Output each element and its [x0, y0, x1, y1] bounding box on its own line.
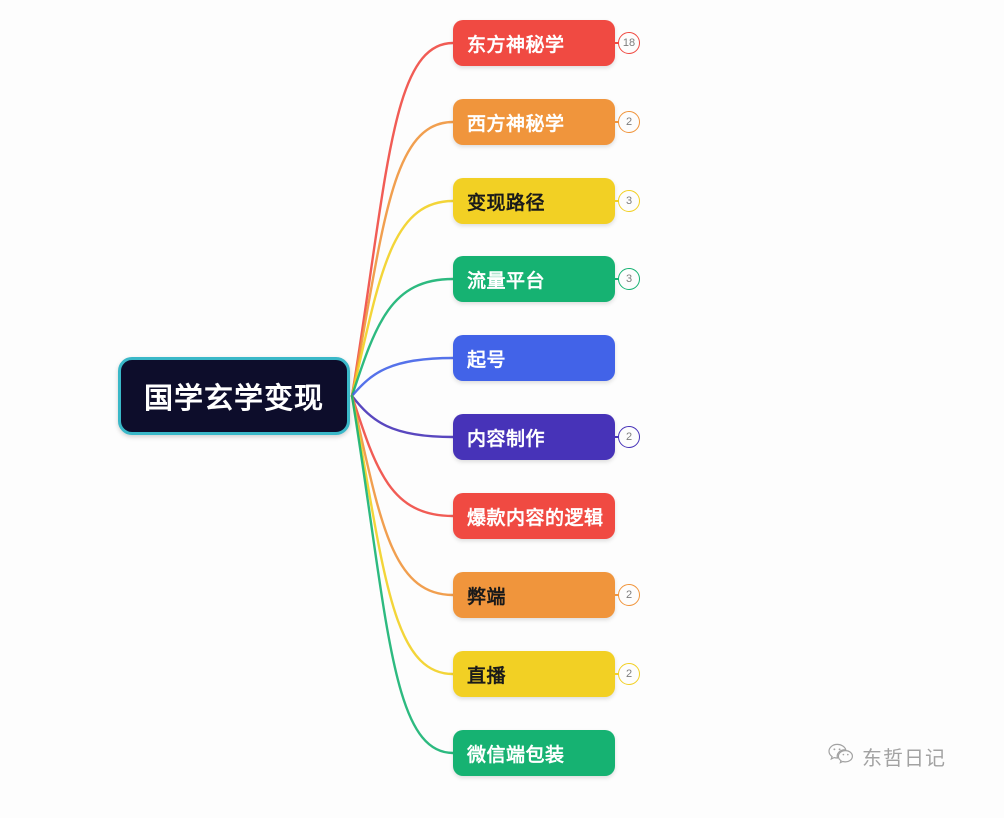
branch-node-label: 东方神秘学	[453, 30, 565, 57]
root-node-label: 国学玄学变现	[144, 375, 324, 417]
branch-count-badge[interactable]: 2	[618, 426, 640, 448]
root-node[interactable]: 国学玄学变现	[118, 357, 350, 435]
branch-node[interactable]: 西方神秘学	[453, 99, 615, 145]
watermark: 东哲日记	[828, 742, 946, 771]
branch-connector	[352, 396, 453, 753]
branch-connector	[352, 396, 453, 595]
branch-node[interactable]: 变现路径	[453, 178, 615, 224]
branch-node-label: 微信端包装	[453, 740, 565, 767]
branch-connector	[352, 201, 453, 396]
branch-count-badge[interactable]: 3	[618, 190, 640, 212]
branch-node-label: 直播	[453, 661, 506, 688]
branch-connector	[352, 396, 453, 437]
branch-node[interactable]: 爆款内容的逻辑	[453, 493, 615, 539]
branch-node-label: 弊端	[453, 582, 506, 609]
branch-count-badge[interactable]: 3	[618, 268, 640, 290]
branch-node[interactable]: 微信端包装	[453, 730, 615, 776]
branch-count-badge[interactable]: 2	[618, 584, 640, 606]
branch-node[interactable]: 东方神秘学	[453, 20, 615, 66]
branch-node[interactable]: 起号	[453, 335, 615, 381]
branch-node[interactable]: 流量平台	[453, 256, 615, 302]
branch-count-badge[interactable]: 18	[618, 32, 640, 54]
branch-node[interactable]: 内容制作	[453, 414, 615, 460]
branch-node[interactable]: 弊端	[453, 572, 615, 618]
watermark-label: 东哲日记	[862, 742, 946, 771]
branch-node-label: 起号	[453, 345, 506, 372]
branch-node-label: 爆款内容的逻辑	[453, 503, 604, 530]
branch-connector	[352, 396, 453, 516]
branch-node-label: 变现路径	[453, 188, 545, 215]
branch-node-label: 西方神秘学	[453, 109, 565, 136]
branch-connector	[352, 358, 453, 396]
branch-node-label: 流量平台	[453, 266, 545, 293]
wechat-icon	[828, 743, 854, 770]
branch-connector	[352, 122, 453, 396]
branch-count-badge[interactable]: 2	[618, 663, 640, 685]
branch-node-label: 内容制作	[453, 424, 545, 451]
branch-connector	[352, 279, 453, 396]
branch-connector	[352, 43, 453, 396]
branch-node[interactable]: 直播	[453, 651, 615, 697]
branch-count-badge[interactable]: 2	[618, 111, 640, 133]
branch-connector	[352, 396, 453, 674]
mindmap-canvas: 国学玄学变现 东方神秘学18西方神秘学2变现路径3流量平台3起号内容制作2爆款内…	[0, 0, 1004, 818]
